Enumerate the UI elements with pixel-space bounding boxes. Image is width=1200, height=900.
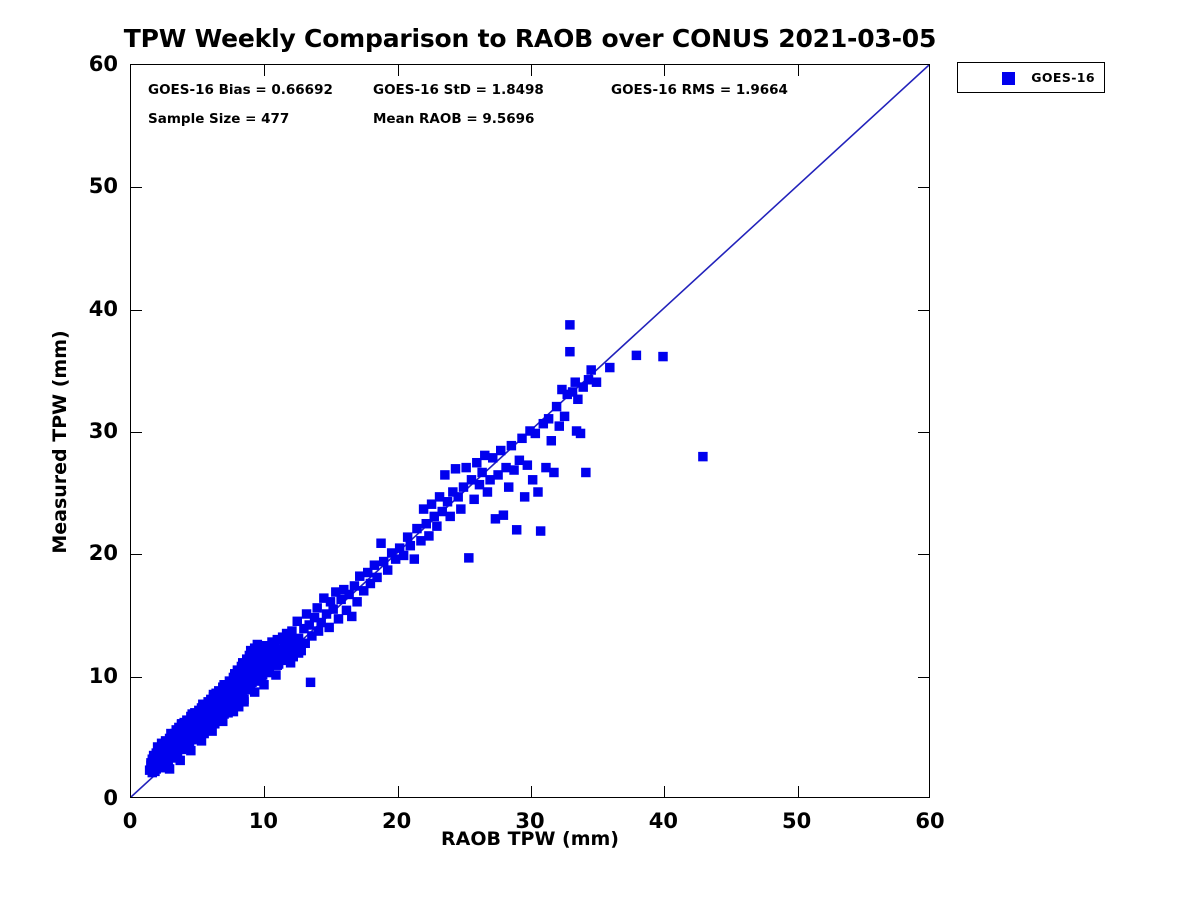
data-point [207,726,216,735]
data-point [294,648,303,657]
y-tick-right [918,432,929,433]
series-goes-16 [145,320,708,777]
data-point [347,612,356,621]
y-tick [131,677,142,678]
data-point [156,743,165,752]
data-point [165,764,174,773]
data-point [209,690,218,699]
y-tick-right [918,187,929,188]
y-tick-right [918,554,929,555]
data-point [230,670,239,679]
data-point [399,551,408,560]
stat-std: GOES-16 StD = 1.8498 [373,82,544,98]
data-point [443,497,452,506]
data-point [555,421,564,430]
data-point [286,658,295,667]
data-point [379,557,388,566]
data-point [350,581,359,590]
data-point [581,468,590,477]
data-point [520,492,529,501]
data-point [334,614,343,623]
x-tick-top [664,65,665,76]
data-point [186,746,195,755]
data-point [177,719,186,728]
data-point [352,597,361,606]
stat-mean-raob: Mean RAOB = 9.5696 [373,111,534,127]
data-point [453,492,462,501]
data-point [573,395,582,404]
data-point [376,539,385,548]
x-tick [398,786,399,797]
data-point [251,651,260,660]
data-point [259,680,268,689]
data-point [469,495,478,504]
data-point [565,320,574,329]
data-point [549,468,558,477]
data-point [383,565,392,574]
data-point [328,604,337,613]
data-point [560,412,569,421]
data-point [440,470,449,479]
y-tick-label: 50 [0,174,118,198]
data-point [198,700,207,709]
data-point [451,464,460,473]
plot-area [130,64,930,798]
data-point [536,526,545,535]
figure-canvas: TPW Weekly Comparison to RAOB over CONUS… [0,0,1200,900]
data-point [324,623,333,632]
x-tick [264,786,265,797]
data-point [372,573,381,582]
y-tick-label: 10 [0,664,118,688]
data-point [306,678,315,687]
x-tick [798,786,799,797]
data-point [218,717,227,726]
data-point [432,521,441,530]
stat-rms: GOES-16 RMS = 1.9664 [611,82,788,98]
y-tick-right [918,677,929,678]
data-point [509,465,518,474]
y-tick-label: 40 [0,297,118,321]
data-point [658,352,667,361]
legend-label-goes-16: GOES-16 [1031,70,1095,85]
scatter-svg [131,65,929,797]
data-point [241,661,250,670]
data-point [698,452,707,461]
y-tick-right [918,310,929,311]
data-point [312,603,321,612]
data-point [632,351,641,360]
data-point [464,553,473,562]
data-point [219,680,228,689]
data-point [507,441,516,450]
data-point [175,756,184,765]
chart-title: TPW Weekly Comparison to RAOB over CONUS… [0,24,1060,53]
data-point [552,402,561,411]
data-point [166,729,175,738]
data-point [592,377,601,386]
legend-marker-goes-16 [1002,72,1015,85]
x-tick-top [398,65,399,76]
data-point [496,446,505,455]
y-tick-label: 30 [0,419,118,443]
data-point [523,460,532,469]
y-tick-label: 60 [0,52,118,76]
y-tick-label: 20 [0,541,118,565]
stat-bias: GOES-16 Bias = 0.66692 [148,82,333,98]
data-point [533,487,542,496]
data-point [483,487,492,496]
data-point [586,365,595,374]
stat-sample-size: Sample Size = 477 [148,111,289,127]
x-tick [531,786,532,797]
data-point [461,463,470,472]
data-point [424,531,433,540]
data-point [547,436,556,445]
data-point [531,429,540,438]
data-point [456,504,465,513]
data-point [239,697,248,706]
data-point [370,560,379,569]
data-point [445,512,454,521]
data-point [512,525,521,534]
scatter-canvas [131,65,929,797]
x-tick-top [531,65,532,76]
x-axis-title: RAOB TPW (mm) [130,828,930,850]
data-point [605,363,614,372]
data-point [403,532,412,541]
data-point [504,482,513,491]
data-point [250,687,259,696]
x-tick [664,786,665,797]
data-point [499,510,508,519]
data-point [544,414,553,423]
y-tick [131,432,142,433]
data-point [187,709,196,718]
data-point [271,670,280,679]
data-point [412,524,421,533]
y-tick [131,310,142,311]
x-tick-top [264,65,265,76]
data-point [229,707,238,716]
data-point [410,554,419,563]
legend[interactable]: GOES-16 [957,62,1105,93]
x-tick-top [798,65,799,76]
data-point [528,475,537,484]
y-tick [131,554,142,555]
data-point [314,626,323,635]
data-point [565,347,574,356]
data-point [197,736,206,745]
y-tick-label: 0 [0,786,118,810]
y-tick [131,187,142,188]
data-point [576,429,585,438]
data-point [406,541,415,550]
